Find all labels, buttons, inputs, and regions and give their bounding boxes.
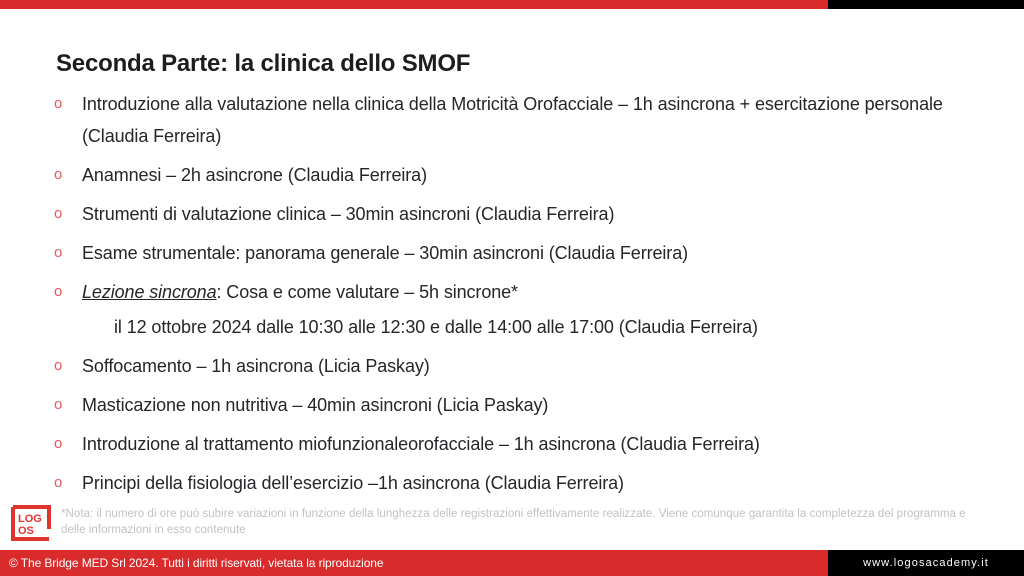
list-item: oSoffocamento – 1h asincrona (Licia Pask…	[52, 350, 1000, 382]
list-item-label: Introduzione alla valutazione nella clin…	[82, 88, 1000, 152]
list-item: oPrincipi della fisiologia dell’esercizi…	[52, 467, 1000, 499]
list-item-label: Anamnesi – 2h asincrone (Claudia Ferreir…	[82, 159, 1000, 191]
bullet-marker-icon: o	[52, 237, 82, 269]
list-item-subline: il 12 ottobre 2024 dalle 10:30 alle 12:3…	[52, 311, 1000, 343]
top-accent-bar-red	[0, 0, 828, 9]
list-item: oStrumenti di valutazione clinica – 30mi…	[52, 198, 1000, 230]
list-item-label: Strumenti di valutazione clinica – 30min…	[82, 198, 1000, 230]
bullet-marker-icon: o	[52, 350, 82, 382]
list-item: oLezione sincrona: Cosa e come valutare …	[52, 276, 1000, 308]
list-item: oEsame strumentale: panorama generale – …	[52, 237, 1000, 269]
program-list: oIntroduzione alla valutazione nella cli…	[52, 88, 1000, 506]
list-item-label: Principi della fisiologia dell’esercizio…	[82, 467, 1000, 499]
copyright-text: © The Bridge MED Srl 2024. Tutti i dirit…	[9, 556, 383, 570]
list-item-label: Masticazione non nutritiva – 40min asinc…	[82, 389, 1000, 421]
list-item: oAnamnesi – 2h asincrone (Claudia Ferrei…	[52, 159, 1000, 191]
footnote-row: LOG OS *Nota: il numero di ore può subir…	[0, 500, 1024, 546]
bottom-bar-black: www.logosacademy.it	[828, 550, 1024, 576]
bullet-marker-icon: o	[52, 389, 82, 421]
list-item: oIntroduzione al trattamento miofunziona…	[52, 428, 1000, 460]
footnote-text: *Nota: il numero di ore può subire varia…	[53, 500, 1024, 538]
top-accent-bar	[0, 0, 1024, 9]
logos-logo-line2: OS	[18, 525, 34, 537]
bullet-marker-icon: o	[52, 428, 82, 460]
page-title: Seconda Parte: la clinica dello SMOF	[56, 50, 470, 78]
bullet-marker-icon: o	[52, 198, 82, 230]
bottom-bar: © The Bridge MED Srl 2024. Tutti i dirit…	[0, 550, 1024, 576]
logos-logo-line1: LOG	[18, 513, 42, 525]
list-item-label: Esame strumentale: panorama generale – 3…	[82, 237, 1000, 269]
list-item-rest: : Cosa e come valutare – 5h sincrone*	[217, 282, 518, 302]
bullet-marker-icon: o	[52, 467, 82, 499]
website-url[interactable]: www.logosacademy.it	[863, 557, 989, 569]
list-item-label: Lezione sincrona: Cosa e come valutare –…	[82, 276, 1000, 308]
list-item: oIntroduzione alla valutazione nella cli…	[52, 88, 1000, 152]
list-item-label: Soffocamento – 1h asincrona (Licia Paska…	[82, 350, 1000, 382]
logos-logo: LOG OS	[9, 503, 53, 543]
slide-root: Seconda Parte: la clinica dello SMOF oIn…	[0, 0, 1024, 576]
bullet-marker-icon: o	[52, 159, 82, 191]
bullet-marker-icon: o	[52, 276, 82, 308]
list-item-emphasis: Lezione sincrona	[82, 282, 217, 302]
bottom-bar-red: © The Bridge MED Srl 2024. Tutti i dirit…	[0, 550, 828, 576]
list-item-label: Introduzione al trattamento miofunzional…	[82, 428, 1000, 460]
bullet-marker-icon: o	[52, 88, 82, 120]
list-item: oMasticazione non nutritiva – 40min asin…	[52, 389, 1000, 421]
top-accent-bar-black	[828, 0, 1024, 9]
logos-logo-mark: LOG OS	[9, 503, 53, 543]
